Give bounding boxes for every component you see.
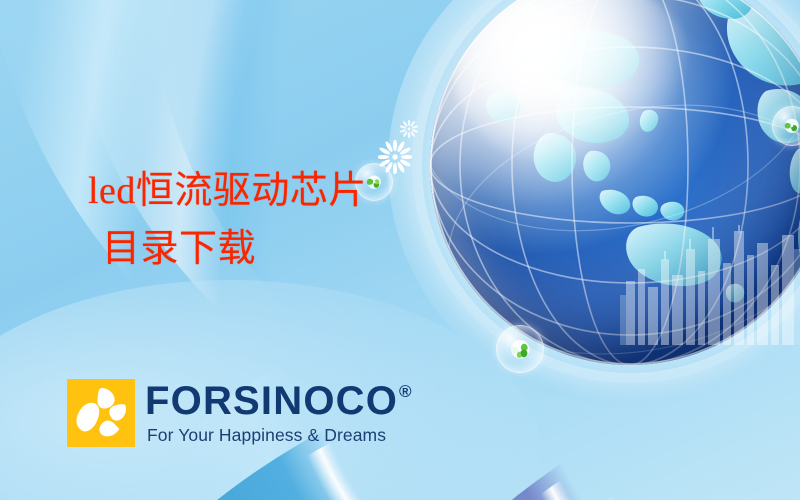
headline-line-1: led恒流驱动芯片	[88, 170, 367, 212]
mini-globe-icon-3	[780, 114, 800, 138]
banner-headline: led恒流驱动芯片 目录下载	[88, 163, 367, 279]
logo-text-block: FORSINOCO ® For Your Happiness & Dreams	[145, 381, 412, 445]
soap-bubble-icon-2	[496, 325, 544, 373]
mini-globe-icon-2	[506, 335, 535, 364]
brand-tagline: For Your Happiness & Dreams	[147, 427, 412, 445]
promo-banner: led恒流驱动芯片 目录下载 FORSINOCO ® For Your Happ…	[0, 0, 800, 500]
city-skyline-icon	[620, 225, 800, 345]
pinwheel-flower-icon	[67, 379, 135, 447]
brand-name-row: FORSINOCO ®	[145, 381, 412, 421]
brand-name: FORSINOCO	[145, 381, 398, 421]
daisy-flower-small-icon	[400, 120, 418, 138]
registered-trademark-icon: ®	[399, 383, 412, 400]
company-logo[interactable]: FORSINOCO ® For Your Happiness & Dreams	[67, 379, 412, 447]
headline-line-2: 目录下载	[88, 221, 367, 279]
